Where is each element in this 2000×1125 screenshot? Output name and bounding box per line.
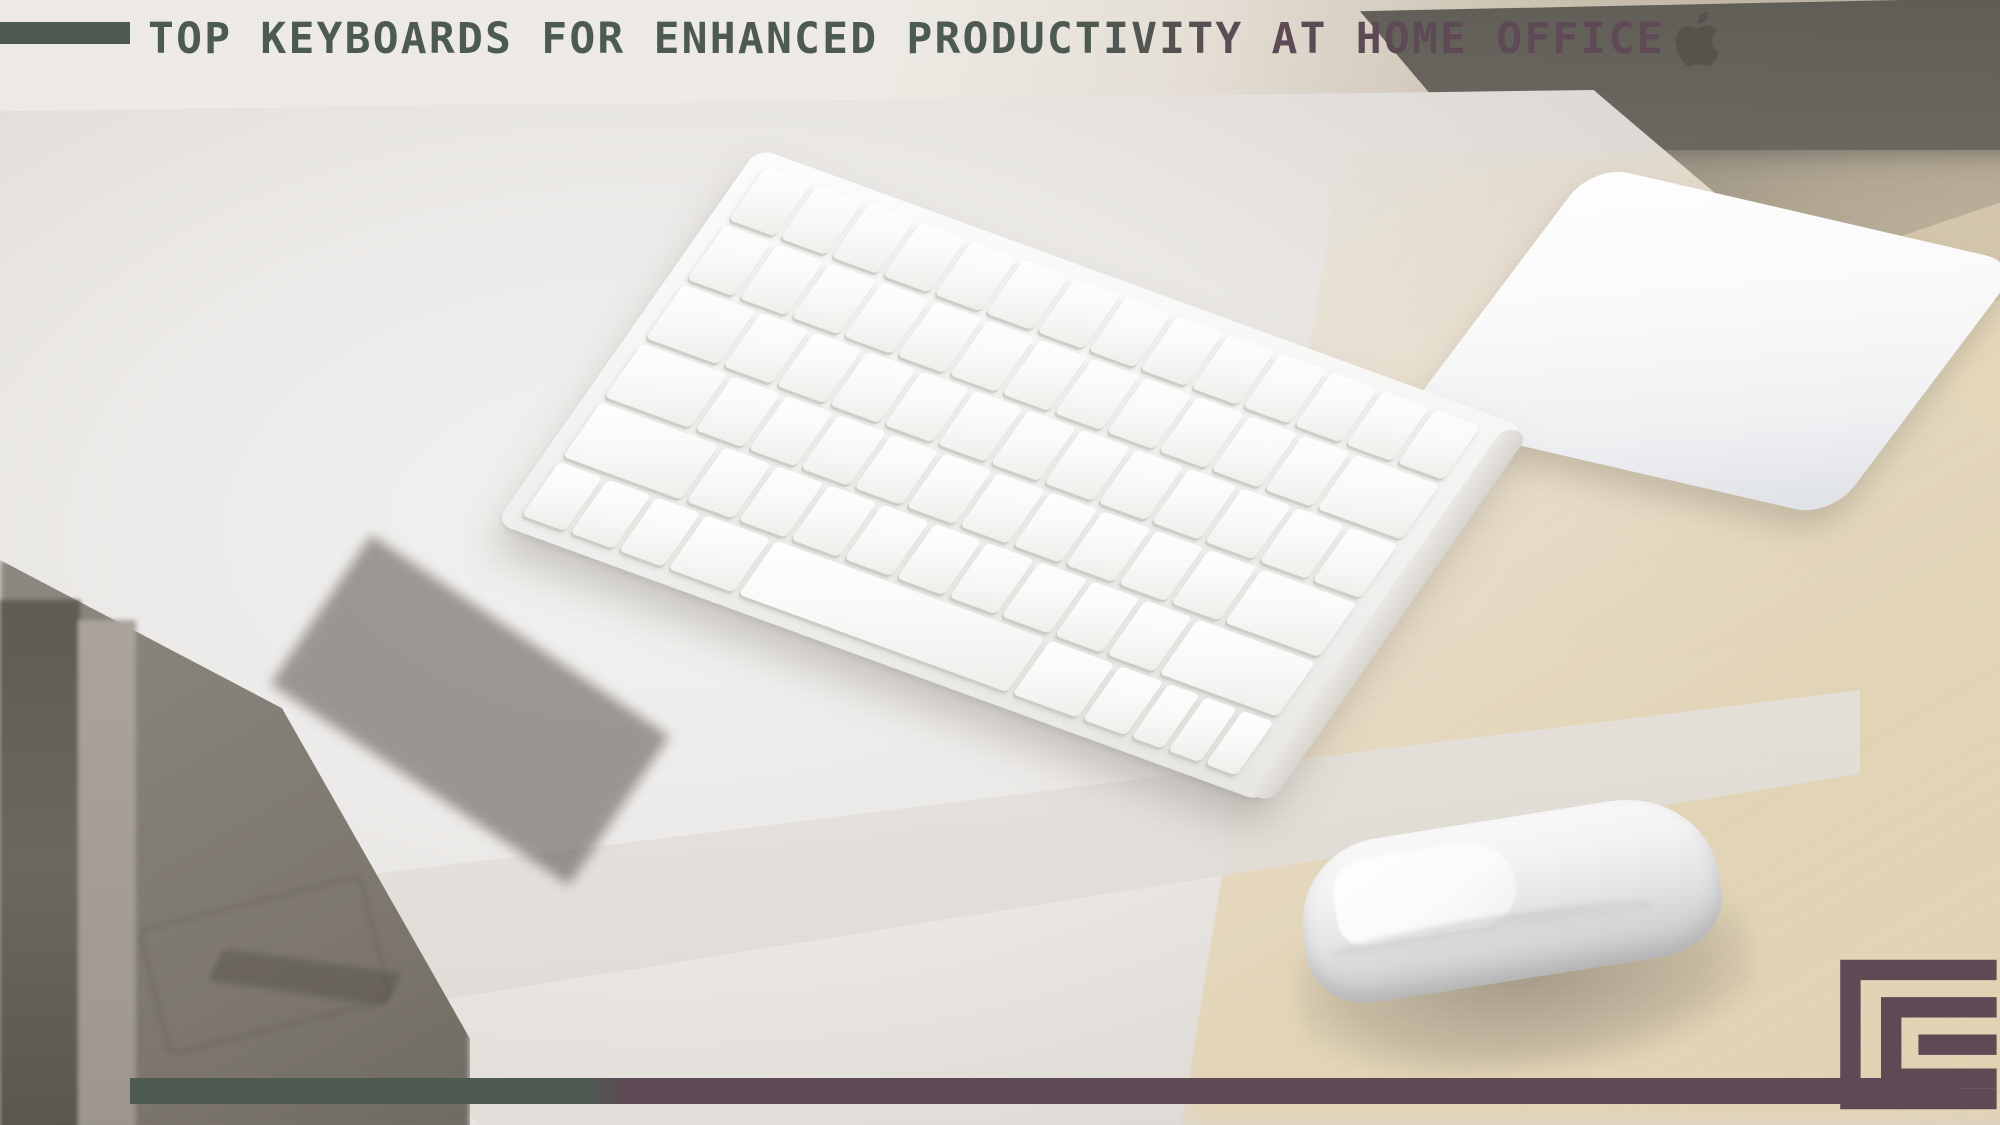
floor-light-strip — [78, 620, 136, 1125]
page-title: TOP KEYBOARDS FOR ENHANCED PRODUCTIVITY … — [148, 14, 1665, 64]
banner-image: TOP KEYBOARDS FOR ENHANCED PRODUCTIVITY … — [0, 0, 2000, 1125]
title-accent-dash — [0, 22, 130, 44]
photo-background — [0, 0, 2000, 1125]
bottom-accent-rule — [130, 1078, 1960, 1104]
apple-icon — [1675, 2, 1729, 76]
brand-logo[interactable] — [1830, 952, 2000, 1117]
floor-dark-strip — [0, 600, 80, 1125]
